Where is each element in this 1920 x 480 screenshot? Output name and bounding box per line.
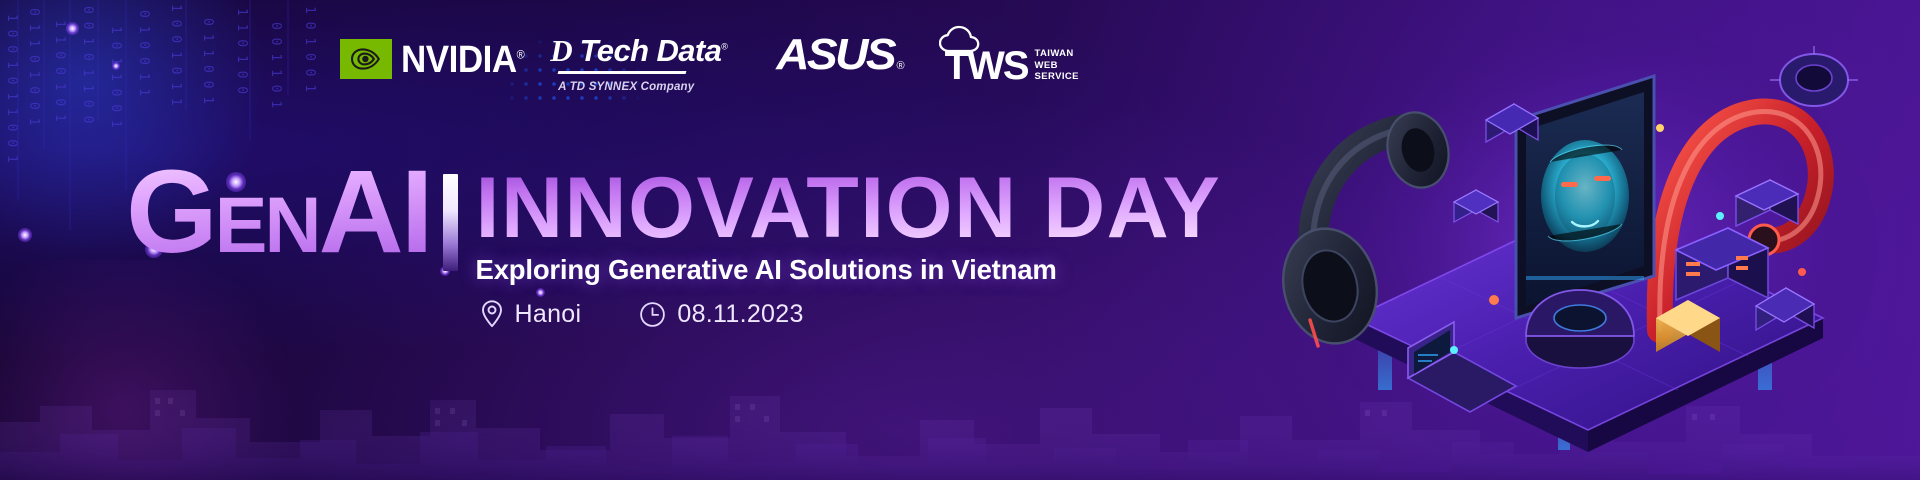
banner-subtitle: Exploring Generative AI Solutions in Vie… [476,254,1222,286]
svg-text:0 1 1 0 0 1: 0 1 1 0 0 1 [200,18,215,104]
hero-illustration [1258,0,1898,480]
tech-data-monogram: D [550,35,572,66]
tech-data-tagline: A TD SYNNEX Company [550,81,702,93]
vr-headset [1526,290,1634,368]
tws-sub-line-1: TAIWAN [1035,48,1074,59]
clock-icon [639,301,666,328]
nvidia-wordmark: NVIDIA® [401,40,524,78]
event-date: 08.11.2023 [639,300,803,329]
partner-logo-row: NVIDIA® D Tech Data® A TD SYNNEX Company… [340,33,1079,103]
tech-data-logo: D Tech Data® A TD SYNNEX Company [550,33,727,93]
headline-divider [443,174,458,271]
svg-text:1 0 1 1 0 0 1: 1 0 1 1 0 0 1 [108,26,123,128]
cloud-icon [939,24,985,54]
event-location-label: Hanoi [515,300,582,329]
svg-text:1 0 1 0 0 1: 1 0 1 0 0 1 [302,6,317,92]
tws-sub-line-3: SERVICE [1035,71,1079,82]
genai-letter-g: G [126,146,215,278]
tech-data-underline [558,71,687,74]
svg-text:1 1 0 0 1 0 1: 1 1 0 0 1 0 1 [52,20,67,122]
asus-registered-mark: ® [897,60,905,72]
svg-text:1 1 0 1 0 0: 1 1 0 1 0 0 [234,8,249,94]
page-title: INNOVATION DAY [476,169,1222,248]
svg-text:0 1 1 0 1 0 0 1: 0 1 1 0 1 0 0 1 [26,8,41,125]
asus-logo: ASUS ® [779,33,904,85]
tablet-with-ai-face [1516,76,1654,318]
tech-data-wordmark: Tech Data® [580,35,728,66]
genai-letters-ai: AI [319,146,431,278]
nvidia-registered-mark: ® [517,48,525,61]
svg-text:1 0 0 1 0 1 1: 1 0 0 1 0 1 1 [168,4,183,106]
svg-text:1 0 0 1 0 1 1 0 0 1: 1 0 0 1 0 1 1 0 0 1 [4,14,19,163]
tech-data-registered-mark: ® [721,42,727,52]
svg-text:0 1 0 0 1 1: 0 1 0 0 1 1 [136,10,151,96]
genai-letters-en: EN [215,180,319,269]
headline-block: GENAI INNOVATION DAY Exploring Generativ… [126,162,1221,329]
tws-logo: TWS TAIWAN WEB SERVICE [945,33,1079,85]
genai-brand-text: GENAI [126,162,431,263]
genai-innovation-day-banner: 1 0 0 1 0 1 1 0 0 1 0 1 1 0 1 0 0 1 1 1 … [0,0,1920,480]
event-meta-row: Hanoi 08.11.2023 [476,299,1222,329]
svg-text:0 0 1 1 0 1: 0 0 1 1 0 1 [268,22,283,108]
nvidia-logo: NVIDIA® [340,33,524,85]
location-pin-icon [480,299,504,329]
tws-sub-line-2: WEB [1035,60,1058,71]
event-date-label: 08.11.2023 [677,300,803,329]
ai-face [1541,140,1629,252]
svg-text:0 0 1 0 1 1 0 0: 0 0 1 0 1 1 0 0 [80,6,95,123]
nvidia-eye-logo-icon [340,39,392,79]
event-location: Hanoi [480,299,582,329]
asus-wordmark: ASUS [776,33,894,77]
tws-sub-lines: TAIWAN WEB SERVICE [1035,48,1079,85]
